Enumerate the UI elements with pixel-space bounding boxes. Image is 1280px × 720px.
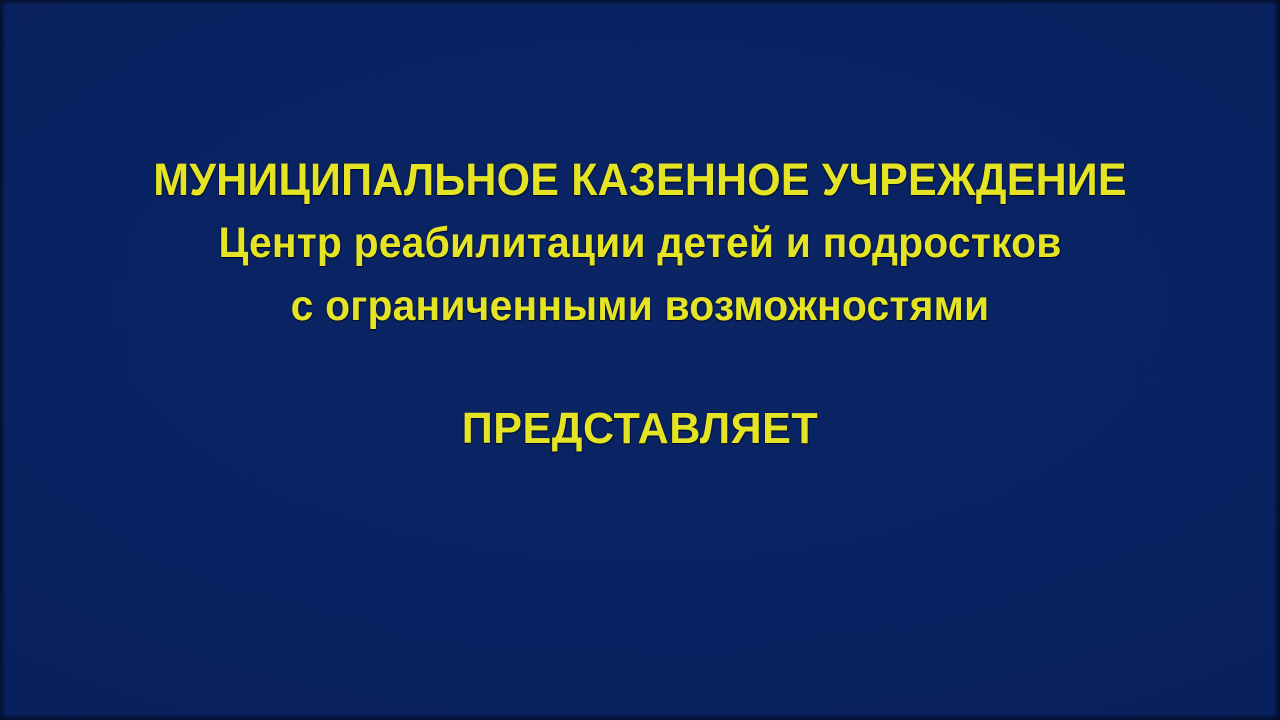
right-edge-band: [1273, 0, 1280, 720]
bottom-edge-band: [0, 714, 1280, 720]
slide-content: МУНИЦИПАЛЬНОЕ КАЗЕННОЕ УЧРЕЖДЕНИЕ Центр …: [0, 0, 1280, 720]
slide-background: [0, 0, 1280, 720]
organization-name-line-1: Центр реабилитации детей и подростков: [32, 217, 1248, 269]
presents-label: ПРЕДСТАВЛЯЕТ: [13, 403, 1267, 455]
organization-name-line-2: с ограниченными возможностями: [32, 280, 1248, 332]
organization-type-line: МУНИЦИПАЛЬНОЕ КАЗЕННОЕ УЧРЕЖДЕНИЕ: [29, 155, 1251, 205]
title-slide: МУНИЦИПАЛЬНОЕ КАЗЕННОЕ УЧРЕЖДЕНИЕ Центр …: [0, 0, 1280, 720]
left-edge-band: [0, 0, 6, 720]
top-edge-band: [0, 0, 1280, 5]
